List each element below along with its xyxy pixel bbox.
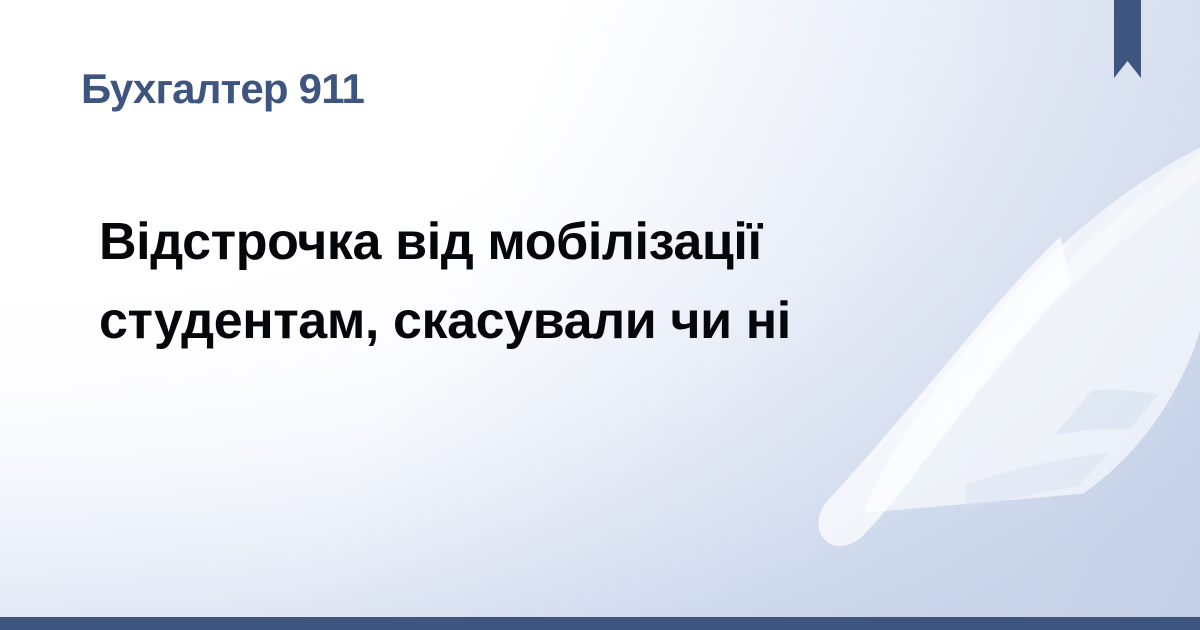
brand-logo[interactable]: Бухгалтер 911 (81, 68, 364, 110)
page-title-line-2: студентам, скасували чи ні (99, 282, 1059, 361)
page-title: Відстрочка від мобілізації студентам, ск… (99, 203, 1059, 361)
page-title-line-1: Відстрочка від мобілізації (99, 203, 1059, 282)
social-share-card: Бухгалтер 911 Відстрочка від мобілізації… (0, 0, 1200, 630)
footer-accent-bar (0, 617, 1200, 630)
bookmark-ribbon-icon (1114, 0, 1141, 78)
